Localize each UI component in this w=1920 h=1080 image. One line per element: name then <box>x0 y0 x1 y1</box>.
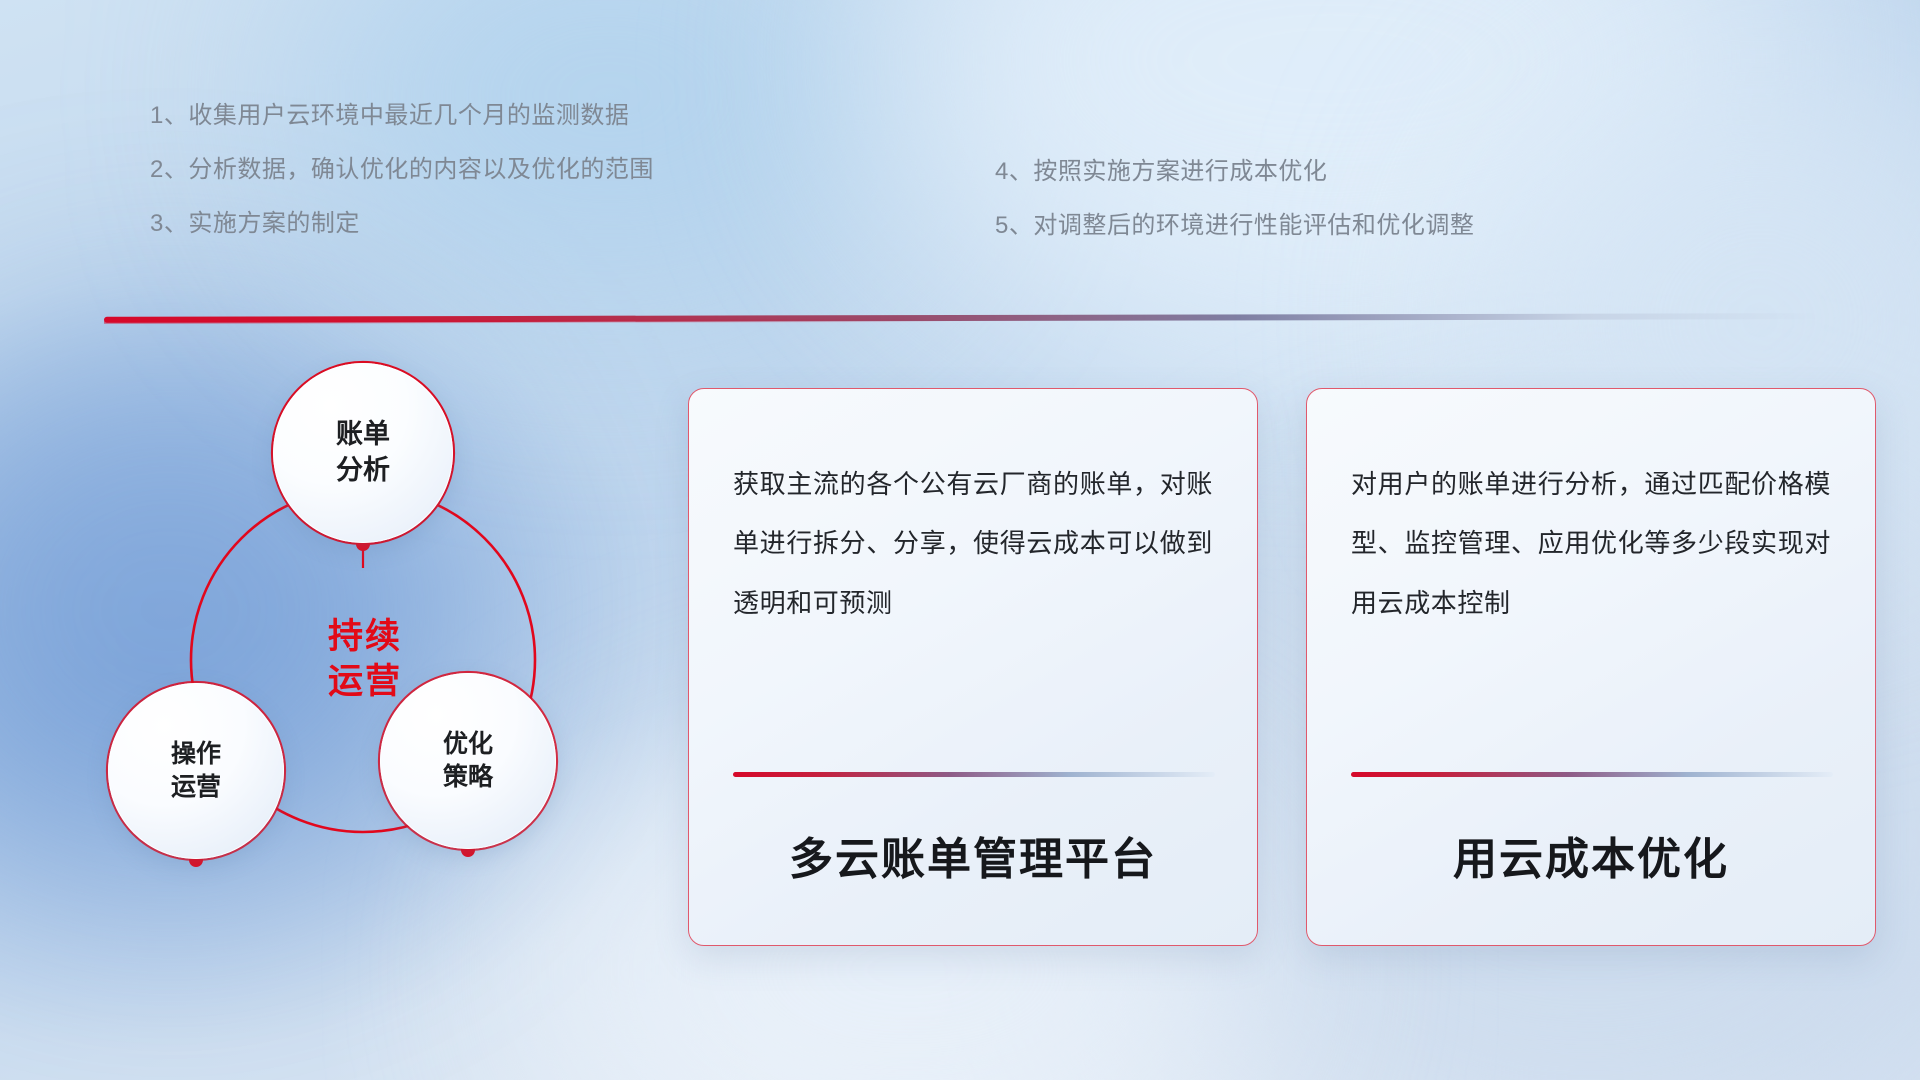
continuous-operation-diagram: 账单 分析 操作 运营 优化 策略 持续 运营 <box>95 355 625 925</box>
bullet-list-left: 1、收集用户云环境中最近几个月的监测数据 2、分析数据，确认优化的内容以及优化的… <box>150 104 654 266</box>
node-label-line2: 运营 <box>171 771 221 804</box>
feature-card-cloud-cost-optimization[interactable]: 对用户的账单进行分析，通过匹配价格模型、监控管理、应用优化等多少段实现对用云成本… <box>1306 388 1876 946</box>
bullet-item: 1、收集用户云环境中最近几个月的监测数据 <box>150 104 654 128</box>
card-divider <box>1351 772 1833 777</box>
diagram-node-billing-analysis[interactable]: 账单 分析 <box>273 363 453 543</box>
section-divider <box>104 313 1824 323</box>
feature-card-multi-cloud-billing-platform[interactable]: 获取主流的各个公有云厂商的账单，对账单进行拆分、分享，使得云成本可以做到透明和可… <box>688 388 1258 946</box>
card-title: 用云成本优化 <box>1307 823 1875 887</box>
bullet-item: 3、实施方案的制定 <box>150 212 654 236</box>
slide-canvas: 1、收集用户云环境中最近几个月的监测数据 2、分析数据，确认优化的内容以及优化的… <box>0 0 1920 1080</box>
card-divider <box>733 772 1215 777</box>
diagram-node-operation[interactable]: 操作 运营 <box>108 683 284 859</box>
bullet-item: 5、对调整后的环境进行性能评估和优化调整 <box>995 214 1474 238</box>
center-label-line1: 持续 <box>328 615 402 660</box>
card-title: 多云账单管理平台 <box>689 823 1257 887</box>
diagram-center-label: 持续 运营 <box>270 585 460 735</box>
card-body-text: 对用户的账单进行分析，通过匹配价格模型、监控管理、应用优化等多少段实现对用云成本… <box>1351 455 1831 633</box>
center-label-line2: 运营 <box>328 660 402 705</box>
node-label-line2: 分析 <box>336 453 390 489</box>
card-body-text: 获取主流的各个公有云厂商的账单，对账单进行拆分、分享，使得云成本可以做到透明和可… <box>733 455 1213 633</box>
bullet-item: 4、按照实施方案进行成本优化 <box>995 160 1474 184</box>
node-label-line1: 操作 <box>171 738 221 771</box>
node-label-line1: 账单 <box>336 417 390 453</box>
bullet-item: 2、分析数据，确认优化的内容以及优化的范围 <box>150 158 654 182</box>
node-label-line2: 策略 <box>443 761 493 794</box>
node-label-line1: 优化 <box>443 728 493 761</box>
bullet-list-right: 4、按照实施方案进行成本优化 5、对调整后的环境进行性能评估和优化调整 <box>995 160 1474 268</box>
